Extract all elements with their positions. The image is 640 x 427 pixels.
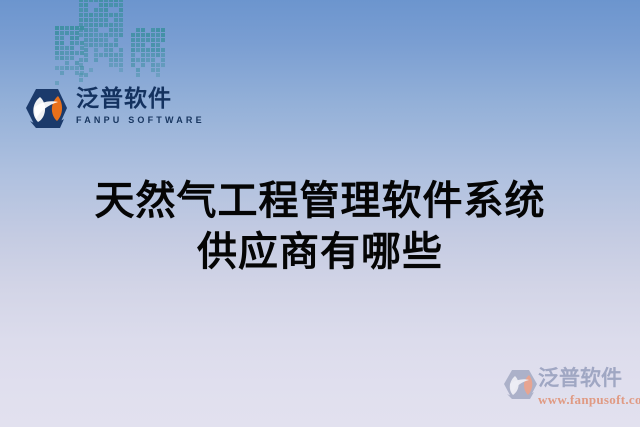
watermark-text: 泛普软件 www.fanpusoft.com [538,366,640,407]
poster-canvas: 泛普软件 FANPU SOFTWARE 天然气工程管理软件系统 供应商有哪些 泛… [0,0,640,427]
brand-name-en: FANPU SOFTWARE [76,114,204,126]
page-title-line-2: 供应商有哪些 [0,227,640,278]
brand-logo: 泛普软件 FANPU SOFTWARE [24,86,204,134]
page-title: 天然气工程管理软件系统 供应商有哪些 [0,176,640,278]
watermark-brand-name: 泛普软件 [538,366,640,391]
fanpu-hexagon-logo-icon [24,88,68,130]
page-title-line-1: 天然气工程管理软件系统 [0,176,640,227]
pixel-skyline-pattern [55,0,190,93]
brand-wordmark: 泛普软件 FANPU SOFTWARE [76,86,204,132]
fanpu-watermark-logo-icon [502,369,538,401]
brand-name-cn: 泛普软件 [76,86,204,112]
watermark: 泛普软件 www.fanpusoft.com [500,366,640,418]
watermark-url: www.fanpusoft.com [538,392,640,407]
